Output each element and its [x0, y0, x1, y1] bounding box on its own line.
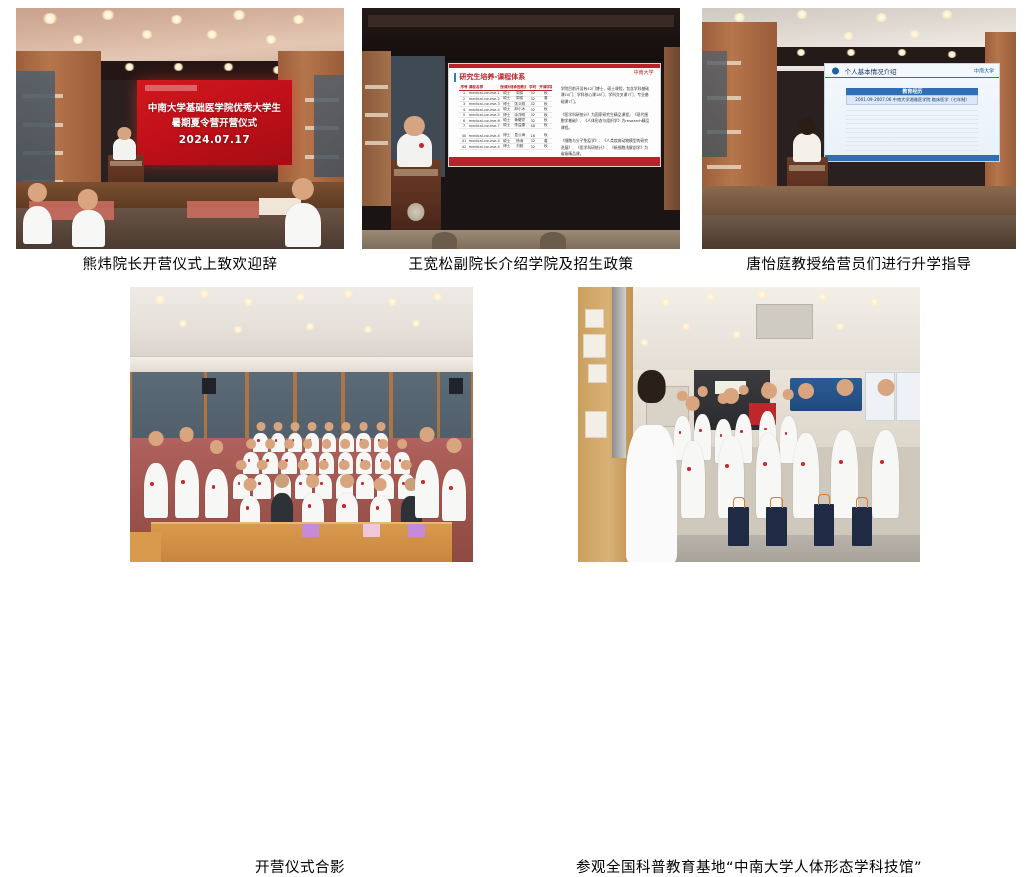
slide-ruled-lines	[846, 107, 978, 148]
stage-light-icon	[897, 49, 907, 56]
ceiling-light-icon	[909, 30, 920, 38]
audience-head	[432, 232, 457, 249]
speaker-person	[113, 138, 136, 160]
ceiling-light-icon	[141, 30, 153, 39]
ceiling-light-icon	[233, 326, 243, 333]
speaker-box-icon	[202, 378, 216, 395]
slide-footer-band	[825, 155, 999, 161]
caption-professor-guidance: 唐怡庭教授给营员们进行升学指导	[684, 257, 1031, 274]
ceiling-light-icon	[292, 15, 305, 24]
attendee-standing	[144, 463, 168, 518]
name-card	[302, 524, 319, 538]
attendee-standing	[175, 460, 199, 518]
ceiling-light-icon	[732, 331, 742, 338]
university-emblem-icon	[407, 203, 424, 220]
wall-panel-dark-left	[702, 51, 727, 157]
side-table	[130, 532, 161, 562]
speaker-head	[118, 127, 131, 140]
stage-face	[702, 186, 1016, 215]
table-cloth	[187, 201, 259, 218]
slide-university-logo-icon: 中南大学	[634, 69, 654, 76]
audience-person	[23, 206, 53, 245]
caption-group-shot: 开营仪式合影	[200, 860, 400, 877]
ceiling-light-icon	[432, 293, 443, 301]
ceiling-light-icon	[835, 323, 845, 330]
speaker-person	[793, 133, 821, 162]
podium-nameplate	[789, 165, 825, 171]
ceiling-beam	[368, 15, 673, 27]
ceiling-vent-icon	[756, 304, 813, 339]
photo-figure-dean-presentation: 研究生培养-课程体系 中南大学 序号 课程名称 授课对象 承担教员人 学时 开课…	[362, 8, 680, 249]
photo-figure-opening-welcome: 中南大学基础医学院优秀大学生 暑期夏令营开营仪式 2024.07.17	[16, 8, 344, 249]
ceiling-light-icon	[640, 339, 649, 346]
ceiling-light-icon	[42, 13, 58, 24]
wall-right	[664, 47, 680, 211]
museum-guide	[626, 425, 677, 563]
slide-bullet: 《医学科研统计》为国家研究生精品课程，《现代细胞学基础》、《人体形态与组织学》为…	[561, 112, 652, 131]
podium-nameplate	[394, 169, 439, 176]
photo-dean-presentation: 研究生培养-课程体系 中南大学 序号 课程名称 授课对象 承担教员人 学时 开课…	[362, 8, 680, 249]
tote-bag	[814, 504, 835, 545]
photo-professor-guidance: 个人基本情况介绍 中南大学 教育经历 2001.09-2007.06 中南大学湘…	[702, 8, 1016, 249]
name-card	[363, 524, 380, 538]
photo-group-shot	[130, 287, 473, 562]
table-row: 42 medical-course-42 博士 刘毅 32 秋	[459, 144, 552, 149]
visitor-front	[831, 430, 858, 518]
led-screen: 中南大学基础医学院优秀大学生 暑期夏令营开营仪式 2024.07.17	[137, 80, 291, 164]
visitor-front	[681, 441, 705, 518]
wall-plaque	[588, 364, 607, 383]
speaker-person	[397, 133, 432, 167]
speaker-head	[404, 116, 424, 136]
visitor-front	[872, 430, 899, 518]
tote-bag	[852, 507, 873, 546]
ceiling-light-icon	[681, 323, 691, 330]
slide-bullet: 学院目前开设有42门博士、硕士课程，包含学科基础课10门、学科核心课18门、学科…	[561, 86, 652, 105]
screen-date-text: 2024.07.17	[144, 132, 286, 148]
audience-head	[540, 232, 565, 249]
ceiling-light-icon	[295, 293, 306, 301]
bullet-dot-icon	[832, 67, 839, 74]
floor	[362, 230, 680, 249]
ceiling-light-icon	[305, 323, 315, 330]
wall-left	[362, 51, 391, 205]
slide-title: 研究生培养-课程体系	[459, 72, 525, 82]
photo-museum-visit	[578, 287, 920, 562]
ceiling-light-icon	[363, 326, 373, 333]
screen-university-logo-icon	[145, 85, 197, 91]
wall-panel-dark-left	[16, 71, 55, 182]
attendee	[356, 474, 373, 499]
presentation-slide: 研究生培养-课程体系 中南大学 序号 课程名称 授课对象 承担教员人 学时 开课…	[448, 63, 661, 166]
attendee-standing	[415, 460, 439, 518]
ceiling-light-icon	[72, 35, 84, 44]
speaker-box-icon	[449, 378, 463, 395]
slide-top-band	[449, 64, 660, 68]
photo-collage-page: 中南大学基础医学院优秀大学生 暑期夏令营开营仪式 2024.07.17	[0, 0, 1031, 604]
slide-university-logo-icon: 中南大学	[974, 67, 994, 74]
ceiling-light-icon	[875, 13, 888, 22]
table-row: 2001.09-2007.06 中南大学湘雅医学院 临床医学（七年制）	[846, 95, 978, 105]
ceiling-light-icon	[199, 290, 210, 298]
attendee-standing	[442, 469, 466, 521]
photo-figure-professor-guidance: 个人基本情况介绍 中南大学 教育经历 2001.09-2007.06 中南大学湘…	[702, 8, 1016, 249]
tote-bag	[766, 507, 787, 546]
wall-panel-dark-right	[314, 75, 344, 176]
table-header: 教育经历	[846, 88, 978, 96]
podium	[391, 160, 442, 232]
ceiling-light-icon	[817, 293, 828, 301]
slide-course-table: 序号 课程名称 授课对象 承担教员人 学时 开课学期 1 medical-cou…	[459, 86, 552, 148]
speaker-head	[799, 118, 815, 134]
caption-dean-presentation: 王宽松副院长介绍学院及招生政策	[340, 257, 702, 274]
exhibit-board	[896, 372, 920, 421]
badge-icon	[419, 143, 424, 148]
ceiling-light-icon	[178, 320, 188, 327]
ceiling-light-icon	[265, 35, 277, 44]
slide-bottom-band	[449, 157, 660, 166]
wall-plaque	[585, 309, 604, 328]
slide-bullet-list: 学院目前开设有42门博士、硕士课程，包含学科基础课10门、学科核心课18门、学科…	[561, 86, 652, 167]
wall-plaque	[583, 334, 606, 358]
slide-bullet: 《细胞与分子免疫学》、《人类疾病动物模型的研究进展》、《医学科研统计》、《新细胞…	[561, 138, 652, 157]
wall-plaque	[585, 411, 608, 438]
presentation-slide: 个人基本情况介绍 中南大学 教育经历 2001.09-2007.06 中南大学湘…	[824, 63, 1000, 161]
ceiling-light-icon	[869, 298, 880, 306]
audience-person	[285, 203, 321, 246]
screen-title-text: 中南大学基础医学院优秀大学生 暑期夏令营开营仪式 2024.07.17	[144, 102, 286, 148]
stage-skirt	[702, 215, 1016, 249]
ceiling-light-icon	[206, 30, 218, 39]
slide-title: 个人基本情况介绍	[845, 66, 897, 76]
tote-bag	[728, 507, 749, 546]
ceiling-light-icon	[705, 293, 716, 301]
caption-opening-welcome: 熊炜院长开营仪式上致欢迎辞	[0, 257, 360, 274]
attendee-standing	[205, 469, 227, 519]
photo-figure-museum-visit: 参观全国科普教育基地“中南大学人体形态学科技馆”	[578, 287, 920, 562]
audience-person	[72, 210, 105, 246]
photo-opening-welcome: 中南大学基础医学院优秀大学生 暑期夏令营开营仪式 2024.07.17	[16, 8, 344, 249]
metal-column	[612, 287, 626, 458]
slide-header: 个人基本情况介绍 中南大学	[825, 64, 999, 78]
ceiling-light-icon	[756, 290, 768, 299]
podium-nameplate	[110, 161, 142, 166]
caption-museum-visit: 参观全国科普教育基地“中南大学人体形态学科技馆”	[568, 860, 930, 877]
ceiling-light-icon	[343, 290, 354, 298]
photo-figure-group-shot: 开营仪式合影	[130, 287, 473, 562]
name-card	[408, 524, 425, 538]
ceiling-light-icon	[660, 298, 671, 306]
